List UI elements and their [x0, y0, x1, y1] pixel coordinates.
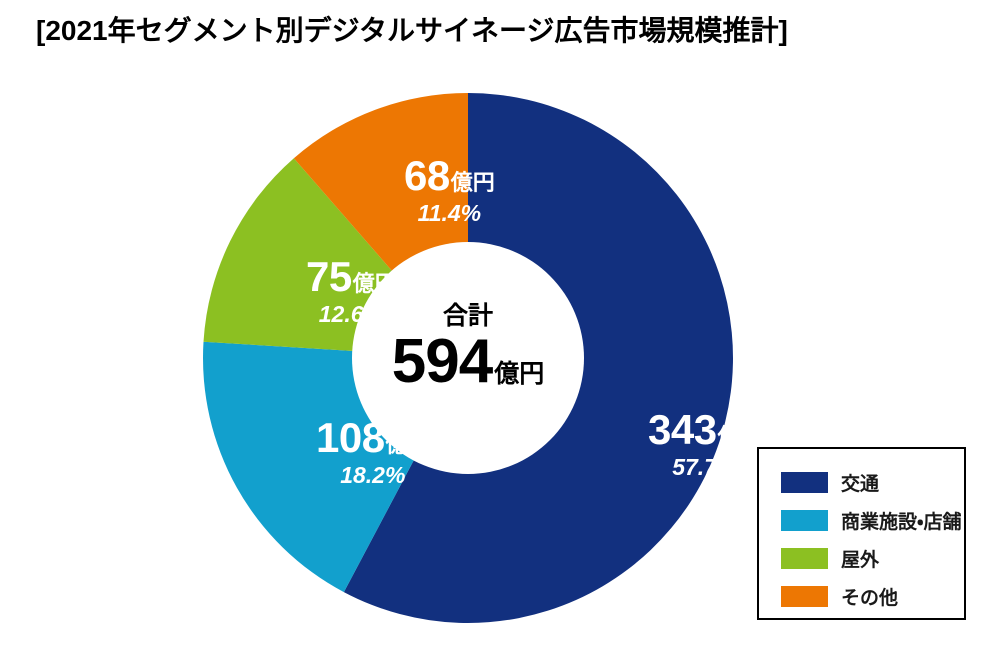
- legend-label: 交通: [841, 469, 879, 496]
- slice-value-line: 343億円: [648, 409, 762, 451]
- slice-percent: 11.4%: [404, 202, 495, 225]
- legend-item[interactable]: 屋外: [759, 539, 964, 577]
- legend-color-swatch: [781, 510, 828, 531]
- legend-color-swatch: [781, 472, 828, 493]
- slice-unit: 億円: [718, 424, 762, 449]
- slice-percent: 57.7%: [648, 456, 762, 479]
- slice-value: 343: [648, 406, 717, 453]
- legend-label: その他: [841, 583, 898, 610]
- legend-item[interactable]: 商業施設・店舗: [759, 501, 964, 539]
- total-value-line: 594億円: [328, 331, 608, 393]
- donut-center-total: 合計 594億円: [328, 304, 608, 393]
- total-value: 594: [392, 327, 492, 396]
- slice-value: 108: [316, 414, 385, 461]
- legend-label: 屋外: [841, 545, 879, 572]
- total-caption: 合計: [328, 304, 608, 329]
- total-unit: 億円: [494, 360, 544, 388]
- legend-item[interactable]: その他: [759, 577, 964, 615]
- slice-value: 68: [404, 152, 450, 199]
- legend-item[interactable]: 交通: [759, 463, 964, 501]
- legend-color-swatch: [781, 548, 828, 569]
- chart-canvas: [2021年セグメント別デジタルサイネージ広告市場規模推計] 343億円57.7…: [0, 0, 984, 655]
- slice-unit: 億円: [386, 432, 430, 457]
- slice-value-line: 108億円: [316, 417, 430, 459]
- slice-value: 75: [306, 253, 352, 300]
- slice-unit: 億円: [353, 271, 397, 296]
- legend-label: 商業施設・店舗: [841, 507, 961, 534]
- slice-value-line: 68億円: [404, 155, 495, 197]
- legend-color-swatch: [781, 586, 828, 607]
- slice-label: 343億円57.7%: [648, 409, 762, 479]
- slice-label: 68億円11.4%: [404, 155, 495, 225]
- slice-unit: 億円: [451, 170, 495, 195]
- slice-value-line: 75億円: [306, 256, 397, 298]
- slice-label: 108億円18.2%: [316, 417, 430, 487]
- slice-percent: 18.2%: [316, 464, 430, 487]
- legend-box: 交通商業施設・店舗屋外その他: [757, 447, 966, 620]
